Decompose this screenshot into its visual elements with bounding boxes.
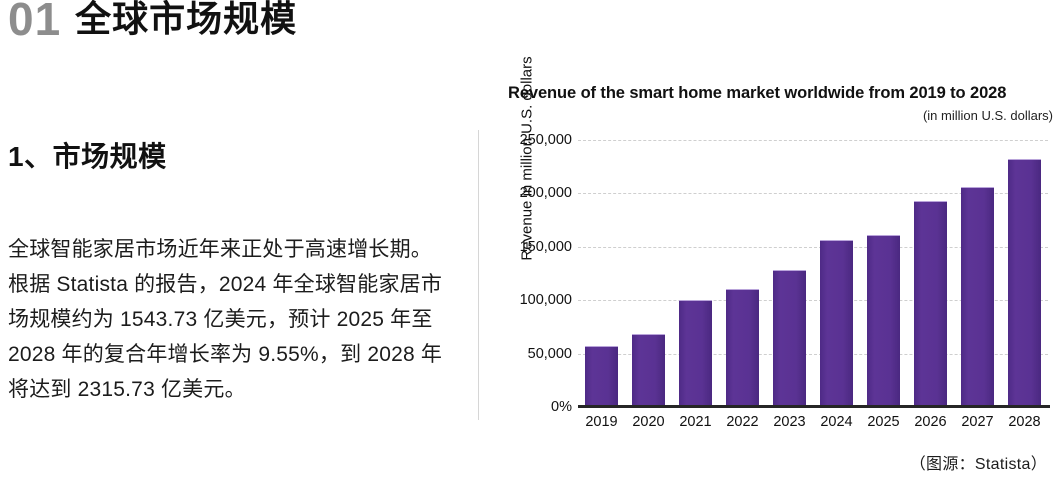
section-header: 01 全球市场规模: [8, 0, 297, 42]
x-axis-ticks: 2019202020212022202320242025202620272028: [578, 414, 1048, 438]
bar-2026: [914, 201, 947, 407]
bar-2019: [585, 346, 618, 407]
sub-heading: 1、市场规模: [8, 140, 167, 174]
y-tick-label: 150,000: [486, 239, 572, 255]
bar-2025: [867, 235, 900, 407]
y-axis-ticks: 0%50,000100,000150,000200,000250,000: [486, 140, 572, 407]
bar-2028: [1008, 159, 1041, 407]
section-number: 01: [8, 0, 61, 42]
bar-2020: [632, 334, 665, 407]
chart-divider: [478, 130, 479, 420]
x-axis-line: [578, 405, 1050, 408]
source-caption: （图源：Statista）: [910, 450, 1047, 474]
bar-2021: [679, 300, 712, 407]
chart-title: Revenue of the smart home market worldwi…: [508, 84, 1053, 103]
page-title: 全球市场规模: [75, 1, 297, 37]
chart-bars: [578, 140, 1048, 407]
y-tick-label: 250,000: [486, 132, 572, 148]
y-tick-label: 100,000: [486, 292, 572, 308]
bar-2027: [961, 187, 994, 407]
bar-2024: [820, 240, 853, 407]
x-tick-label: 2028: [995, 414, 1055, 430]
body-paragraph: 全球智能家居市场近年来正处于高速增长期。根据 Statista 的报告，2024…: [8, 232, 448, 407]
bar-2022: [726, 289, 759, 407]
slide-page: 01 全球市场规模 1、市场规模 全球智能家居市场近年来正处于高速增长期。根据 …: [0, 0, 1055, 477]
y-tick-label: 50,000: [486, 346, 572, 362]
y-tick-label: 0%: [486, 399, 572, 415]
chart-subtitle: (in million U.S. dollars): [508, 108, 1053, 123]
chart-panel: Revenue of the smart home market worldwi…: [478, 0, 1055, 477]
text-column: 01 全球市场规模 1、市场规模 全球智能家居市场近年来正处于高速增长期。根据 …: [0, 0, 470, 477]
y-tick-label: 200,000: [486, 185, 572, 201]
bar-2023: [773, 270, 806, 407]
